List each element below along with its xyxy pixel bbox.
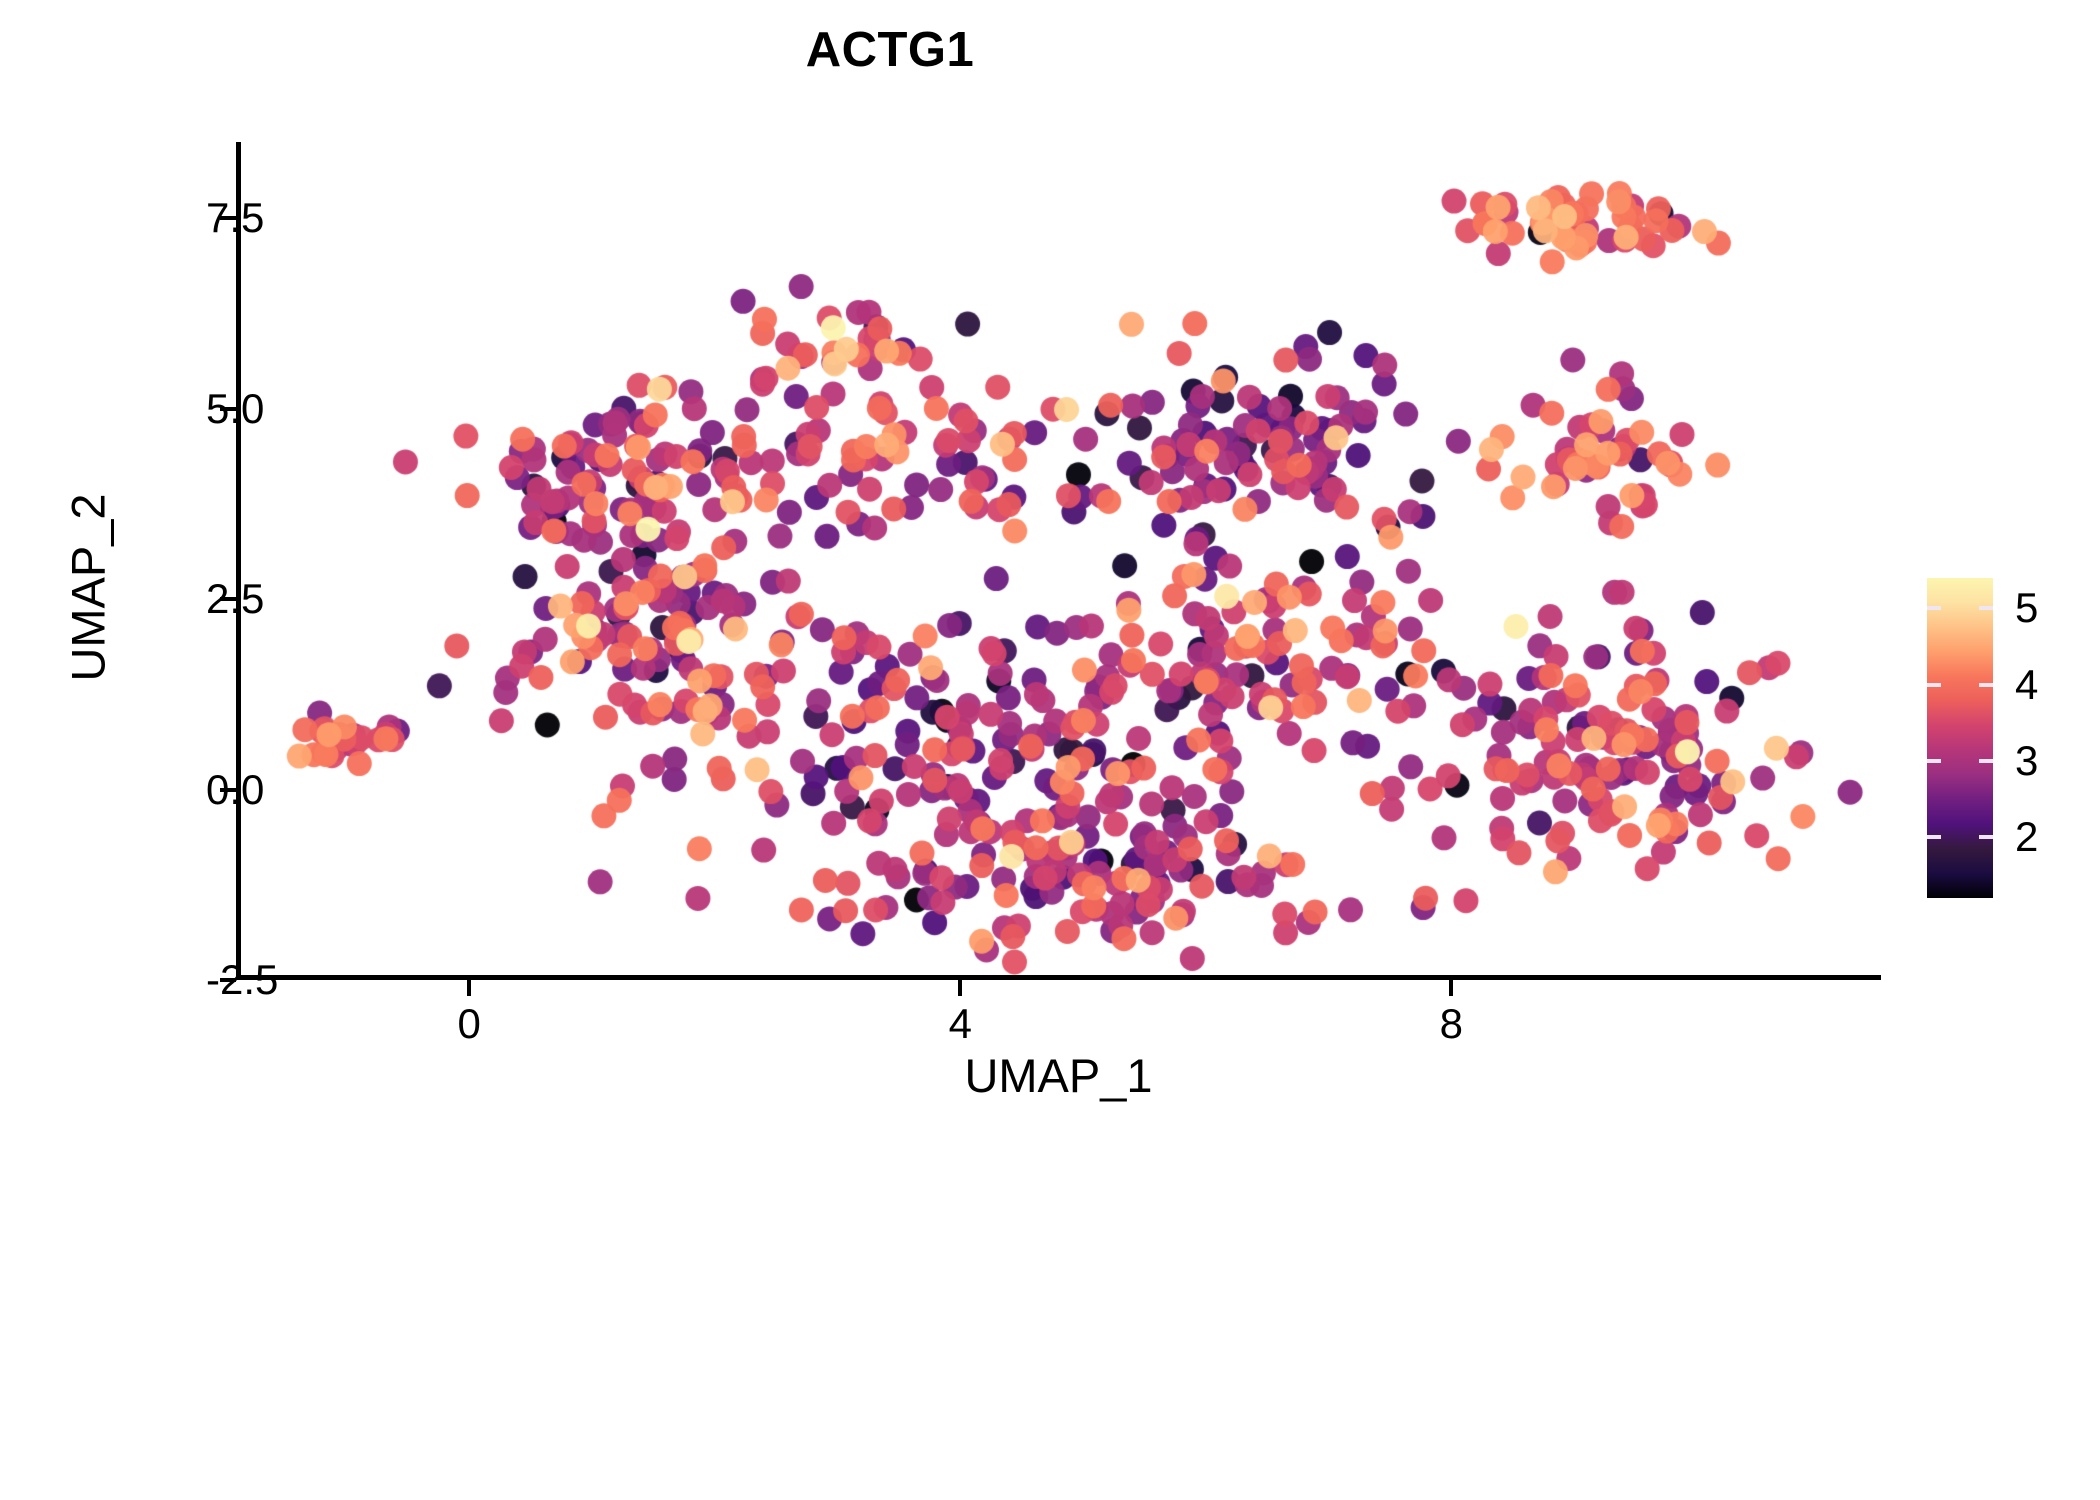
color-legend-gradient-bar (1927, 578, 1993, 898)
legend-tick-mark (1927, 683, 1941, 687)
legend-tick-mark (1927, 835, 1941, 839)
scatter-points-canvas (236, 142, 1881, 980)
y-axis-line (236, 142, 241, 980)
x-tick-mark (467, 980, 471, 996)
legend-tick-mark (1927, 759, 1941, 763)
x-tick-label: 4 (949, 1000, 972, 1048)
x-tick-mark (1449, 980, 1453, 996)
x-axis-label: UMAP_1 (236, 1048, 1881, 1103)
x-tick-label: 0 (458, 1000, 481, 1048)
plot-panel (236, 142, 1881, 980)
page-title: ACTG1 (0, 22, 1780, 78)
feature-plot-figure: ACTG1 -2.50.02.55.07.5 048 UMAP_2 UMAP_1… (0, 0, 2100, 1500)
x-axis-line (236, 975, 1881, 980)
x-tick-label: 8 (1440, 1000, 1463, 1048)
legend-tick-label: 5 (2015, 584, 2038, 632)
color-legend: 2345 (1927, 578, 1993, 898)
y-axis-label: UMAP_2 (61, 438, 116, 738)
legend-tick-label: 4 (2015, 661, 2038, 709)
legend-tick-mark (1927, 606, 1941, 610)
legend-tick-mark (1979, 759, 1993, 763)
legend-tick-label: 3 (2015, 737, 2038, 785)
legend-tick-mark (1979, 683, 1993, 687)
legend-tick-label: 2 (2015, 813, 2038, 861)
legend-tick-mark (1979, 835, 1993, 839)
x-tick-mark (958, 980, 962, 996)
legend-tick-mark (1979, 606, 1993, 610)
